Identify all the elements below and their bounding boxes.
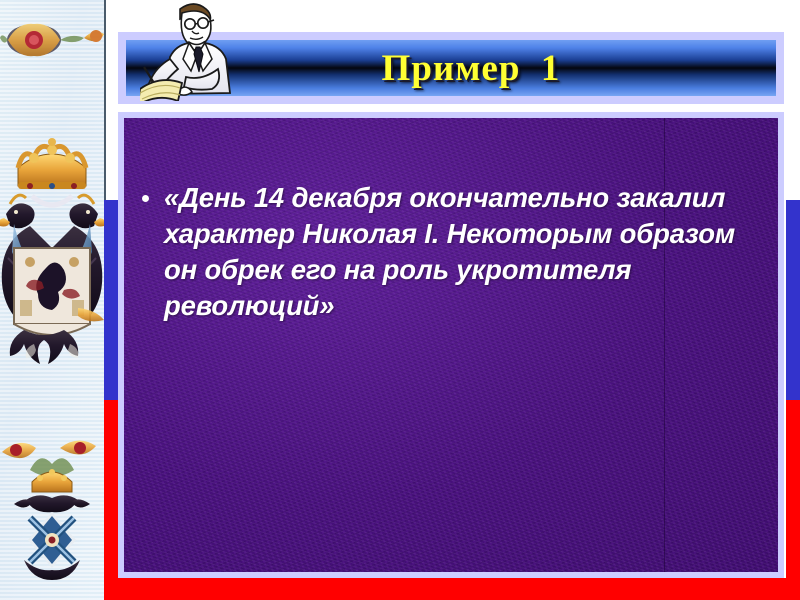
presentation-slide: Пример 1 — [0, 0, 800, 600]
content-placeholder: «День 14 декабря окончательно закалил ха… — [124, 118, 778, 572]
heraldry-artwork — [0, 0, 104, 600]
content-frame: «День 14 декабря окончательно закалил ха… — [118, 112, 784, 578]
page-title: Пример 1 — [382, 47, 561, 90]
list-item: «День 14 декабря окончательно закалил ха… — [136, 180, 768, 324]
bottom-red-accent-band — [104, 578, 800, 600]
bullet-list: «День 14 декабря окончательно закалил ха… — [124, 118, 778, 324]
left-red-accent-band — [104, 400, 118, 600]
man-writing-icon — [140, 0, 236, 101]
russian-imperial-heraldry-border — [0, 0, 106, 600]
right-blue-accent-band — [786, 200, 800, 400]
left-blue-accent-band — [104, 200, 118, 400]
right-red-accent-band — [786, 400, 800, 600]
